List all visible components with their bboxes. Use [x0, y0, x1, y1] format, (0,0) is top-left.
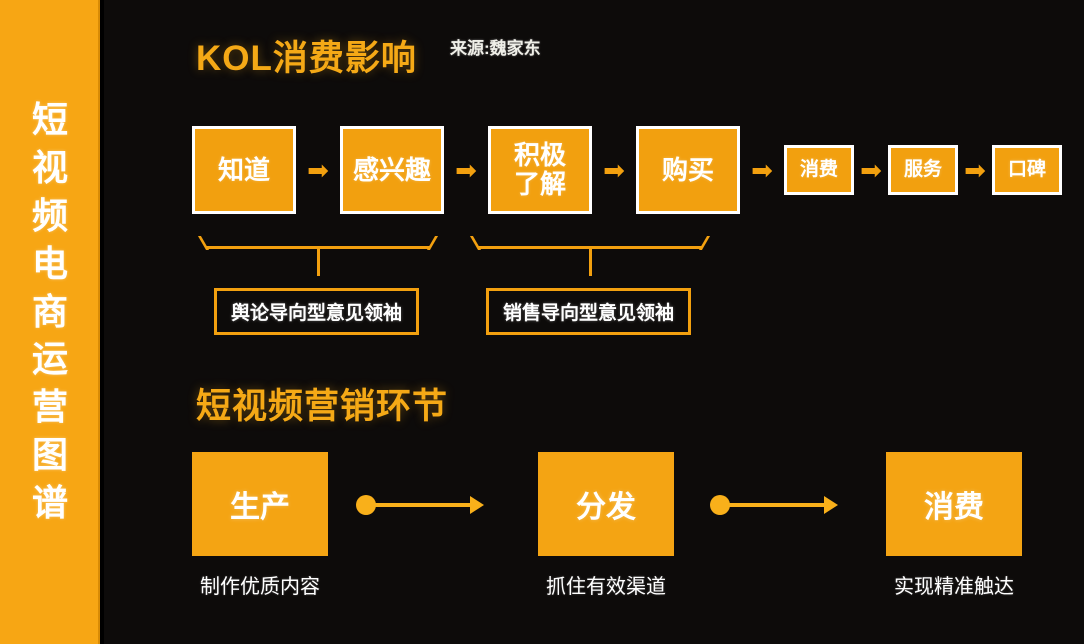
brace-stem — [317, 248, 320, 276]
connector-arrowhead-icon — [470, 496, 484, 514]
marketing-section-title: 短视频营销环节 — [196, 378, 448, 429]
brace-stem — [589, 248, 592, 276]
infographic-canvas: 短 视 频 电 商 运 营 图 谱 KOL消费影响 来源:魏家东 知道 ➡ 感兴… — [0, 0, 1084, 644]
kol-step-zhidao: 知道 — [192, 126, 296, 214]
kol-step-goumai: 购买 — [636, 126, 740, 214]
group-label-opinion: 舆论导向型意见领袖 — [214, 288, 419, 335]
arrow-right-icon-1: ➡ — [296, 157, 340, 183]
connector-arrowhead-icon — [824, 496, 838, 514]
kol-step-ganxingqu: 感兴趣 — [340, 126, 444, 214]
content-panel: KOL消费影响 来源:魏家东 知道 ➡ 感兴趣 ➡ 积极 了解 ➡ 购买 ➡ 消… — [104, 0, 1084, 644]
arrow-right-icon-5: ➡ — [854, 157, 888, 183]
arrow-right-icon-3: ➡ — [592, 157, 636, 183]
sidebar-vertical-title: 短 视 频 电 商 运 营 图 谱 — [0, 96, 100, 527]
kol-step-koubei: 口碑 — [992, 145, 1062, 195]
brace-tip-right — [699, 236, 710, 250]
marketing-stage-row: 生产 制作优质内容 分发 抓住有效渠道 消费 实现精准触达 — [192, 452, 1022, 612]
stage-distribution: 分发 抓住有效渠道 — [538, 452, 674, 599]
stage-caption: 抓住有效渠道 — [538, 570, 674, 599]
stage-box-label: 生产 — [192, 452, 328, 556]
arrow-right-icon-2: ➡ — [444, 157, 488, 183]
group-brace-opinion — [196, 236, 440, 250]
stage-caption: 实现精准触达 — [886, 570, 1022, 599]
connector-line — [372, 503, 472, 507]
stage-box-label: 消费 — [886, 452, 1022, 556]
kol-section-title: KOL消费影响 — [196, 30, 417, 81]
group-label-sales: 销售导向型意见领袖 — [486, 288, 691, 335]
kol-step-xiaofei: 消费 — [784, 145, 854, 195]
stage-box-label: 分发 — [538, 452, 674, 556]
source-attribution: 来源:魏家东 — [450, 34, 541, 59]
group-brace-sales — [468, 236, 712, 250]
arrow-right-icon-6: ➡ — [958, 157, 992, 183]
brace-tip-right — [427, 236, 438, 250]
stage-connector-arrow-2 — [710, 492, 838, 518]
stage-production: 生产 制作优质内容 — [192, 452, 328, 599]
connector-line — [726, 503, 826, 507]
kol-flow-row: 知道 ➡ 感兴趣 ➡ 积极 了解 ➡ 购买 ➡ 消费 ➡ 服务 ➡ 口碑 — [192, 122, 1022, 218]
stage-caption: 制作优质内容 — [192, 570, 328, 599]
stage-connector-arrow-1 — [356, 492, 484, 518]
sidebar-banner: 短 视 频 电 商 运 营 图 谱 — [0, 0, 100, 644]
arrow-right-icon-4: ➡ — [740, 157, 784, 183]
stage-consumption: 消费 实现精准触达 — [886, 452, 1022, 599]
kol-step-jijiliaojie: 积极 了解 — [488, 126, 592, 214]
kol-step-fuwu: 服务 — [888, 145, 958, 195]
